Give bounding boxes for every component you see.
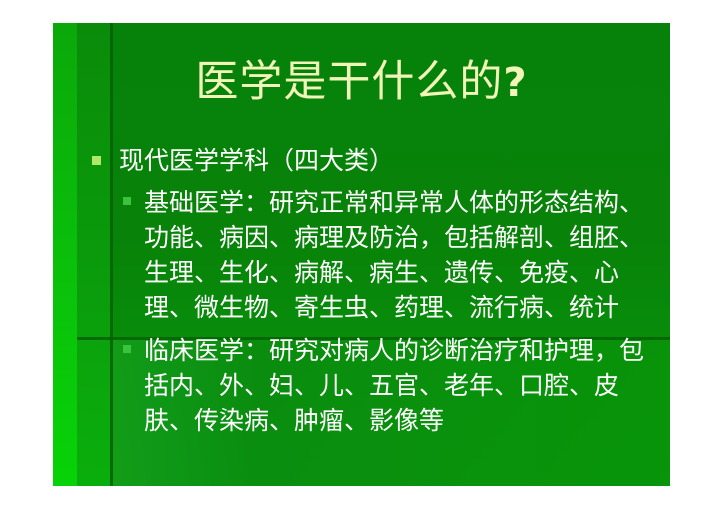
square-bullet-icon: [123, 345, 131, 353]
bullet-level2-item-clinical-medicine: 临床医学：研究对病人的诊断治疗和护理，包括内、外、妇、儿、五官、老年、口腔、皮肤…: [122, 333, 666, 438]
bullet-level1-item: 现代医学学科（四大类）: [86, 143, 666, 179]
bullet-level2-item-basic-medicine: 基础医学：研究正常和异常人体的形态结构、功能、病因、病理及防治，包括解剖、组胚、…: [122, 185, 666, 325]
slide-title: 医学是干什么的?: [53, 55, 670, 110]
square-bullet-icon: [123, 197, 131, 205]
presentation-slide: 医学是干什么的? 现代医学学科（四大类） 基础医学：研究正常和异常人体的形态结构…: [53, 23, 670, 486]
bullet-level2-label: 临床医学：研究对病人的诊断治疗和护理，包括内、外、妇、儿、五官、老年、口腔、皮肤…: [144, 333, 666, 438]
square-bullet-icon: [92, 156, 101, 165]
slide-body: 现代医学学科（四大类） 基础医学：研究正常和异常人体的形态结构、功能、病因、病理…: [86, 143, 666, 446]
slide-root: 医学是干什么的? 现代医学学科（四大类） 基础医学：研究正常和异常人体的形态结构…: [0, 0, 720, 509]
slide-title-question-mark: ?: [503, 60, 527, 106]
bullet-level2-label: 基础医学：研究正常和异常人体的形态结构、功能、病因、病理及防治，包括解剖、组胚、…: [144, 185, 666, 325]
bullet-level1-label: 现代医学学科（四大类）: [119, 146, 394, 175]
bullet-level2-group: 基础医学：研究正常和异常人体的形态结构、功能、病因、病理及防治，包括解剖、组胚、…: [86, 185, 666, 438]
slide-title-text: 医学是干什么的: [195, 57, 503, 107]
